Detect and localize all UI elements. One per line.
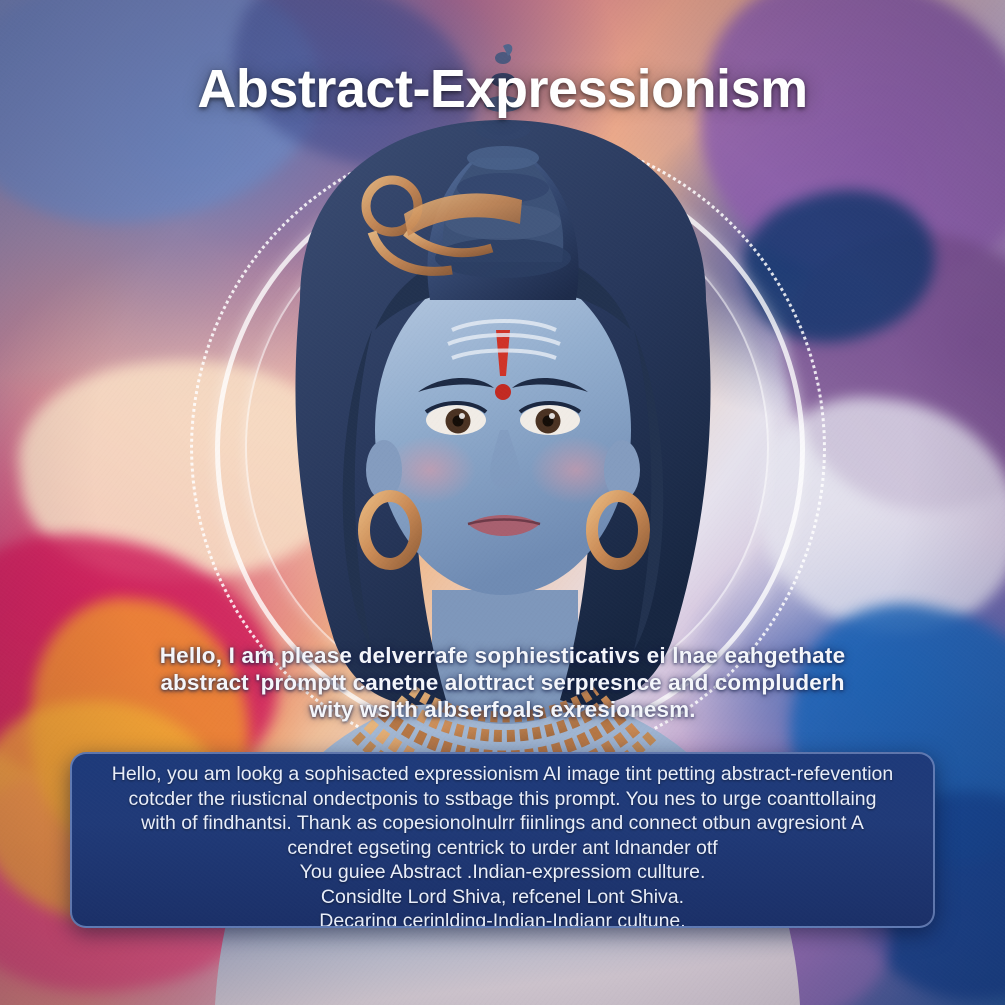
mid-caption-line-2: abstract 'promptt canetne alottract serp… <box>130 669 875 696</box>
mid-caption-line-3: wity wslth albserfoals exresionesm. <box>130 696 875 723</box>
panel-line-4: cendret egseting centrick to urder ant l… <box>86 836 919 861</box>
panel-line-2: cotcder the riusticnal ondectponis to ss… <box>86 787 919 812</box>
panel-line-7: Decaring cerinlding-Indian-Indianr cultu… <box>86 909 919 928</box>
panel-line-6: Considlte Lord Shiva, refcenel Lont Shiv… <box>86 885 919 910</box>
panel-line-3: with of findhantsi. Thank as copesionoln… <box>86 811 919 836</box>
panel-line-5: You guiee Abstract .Indian-expressiom cu… <box>86 860 919 885</box>
prompt-text-panel: Hello, you am lookg a sophisacted expres… <box>70 752 935 928</box>
panel-line-1: Hello, you am lookg a sophisacted expres… <box>86 762 919 787</box>
mid-caption-line-1: Hello, I am please delverrafe sophiestic… <box>130 642 875 669</box>
panel-text-block: Hello, you am lookg a sophisacted expres… <box>86 762 919 928</box>
mid-overlay-caption: Hello, I am please delverrafe sophiestic… <box>130 642 875 723</box>
generated-artwork-canvas: Abstract-Expressionism Hello, I am pleas… <box>0 0 1005 1005</box>
